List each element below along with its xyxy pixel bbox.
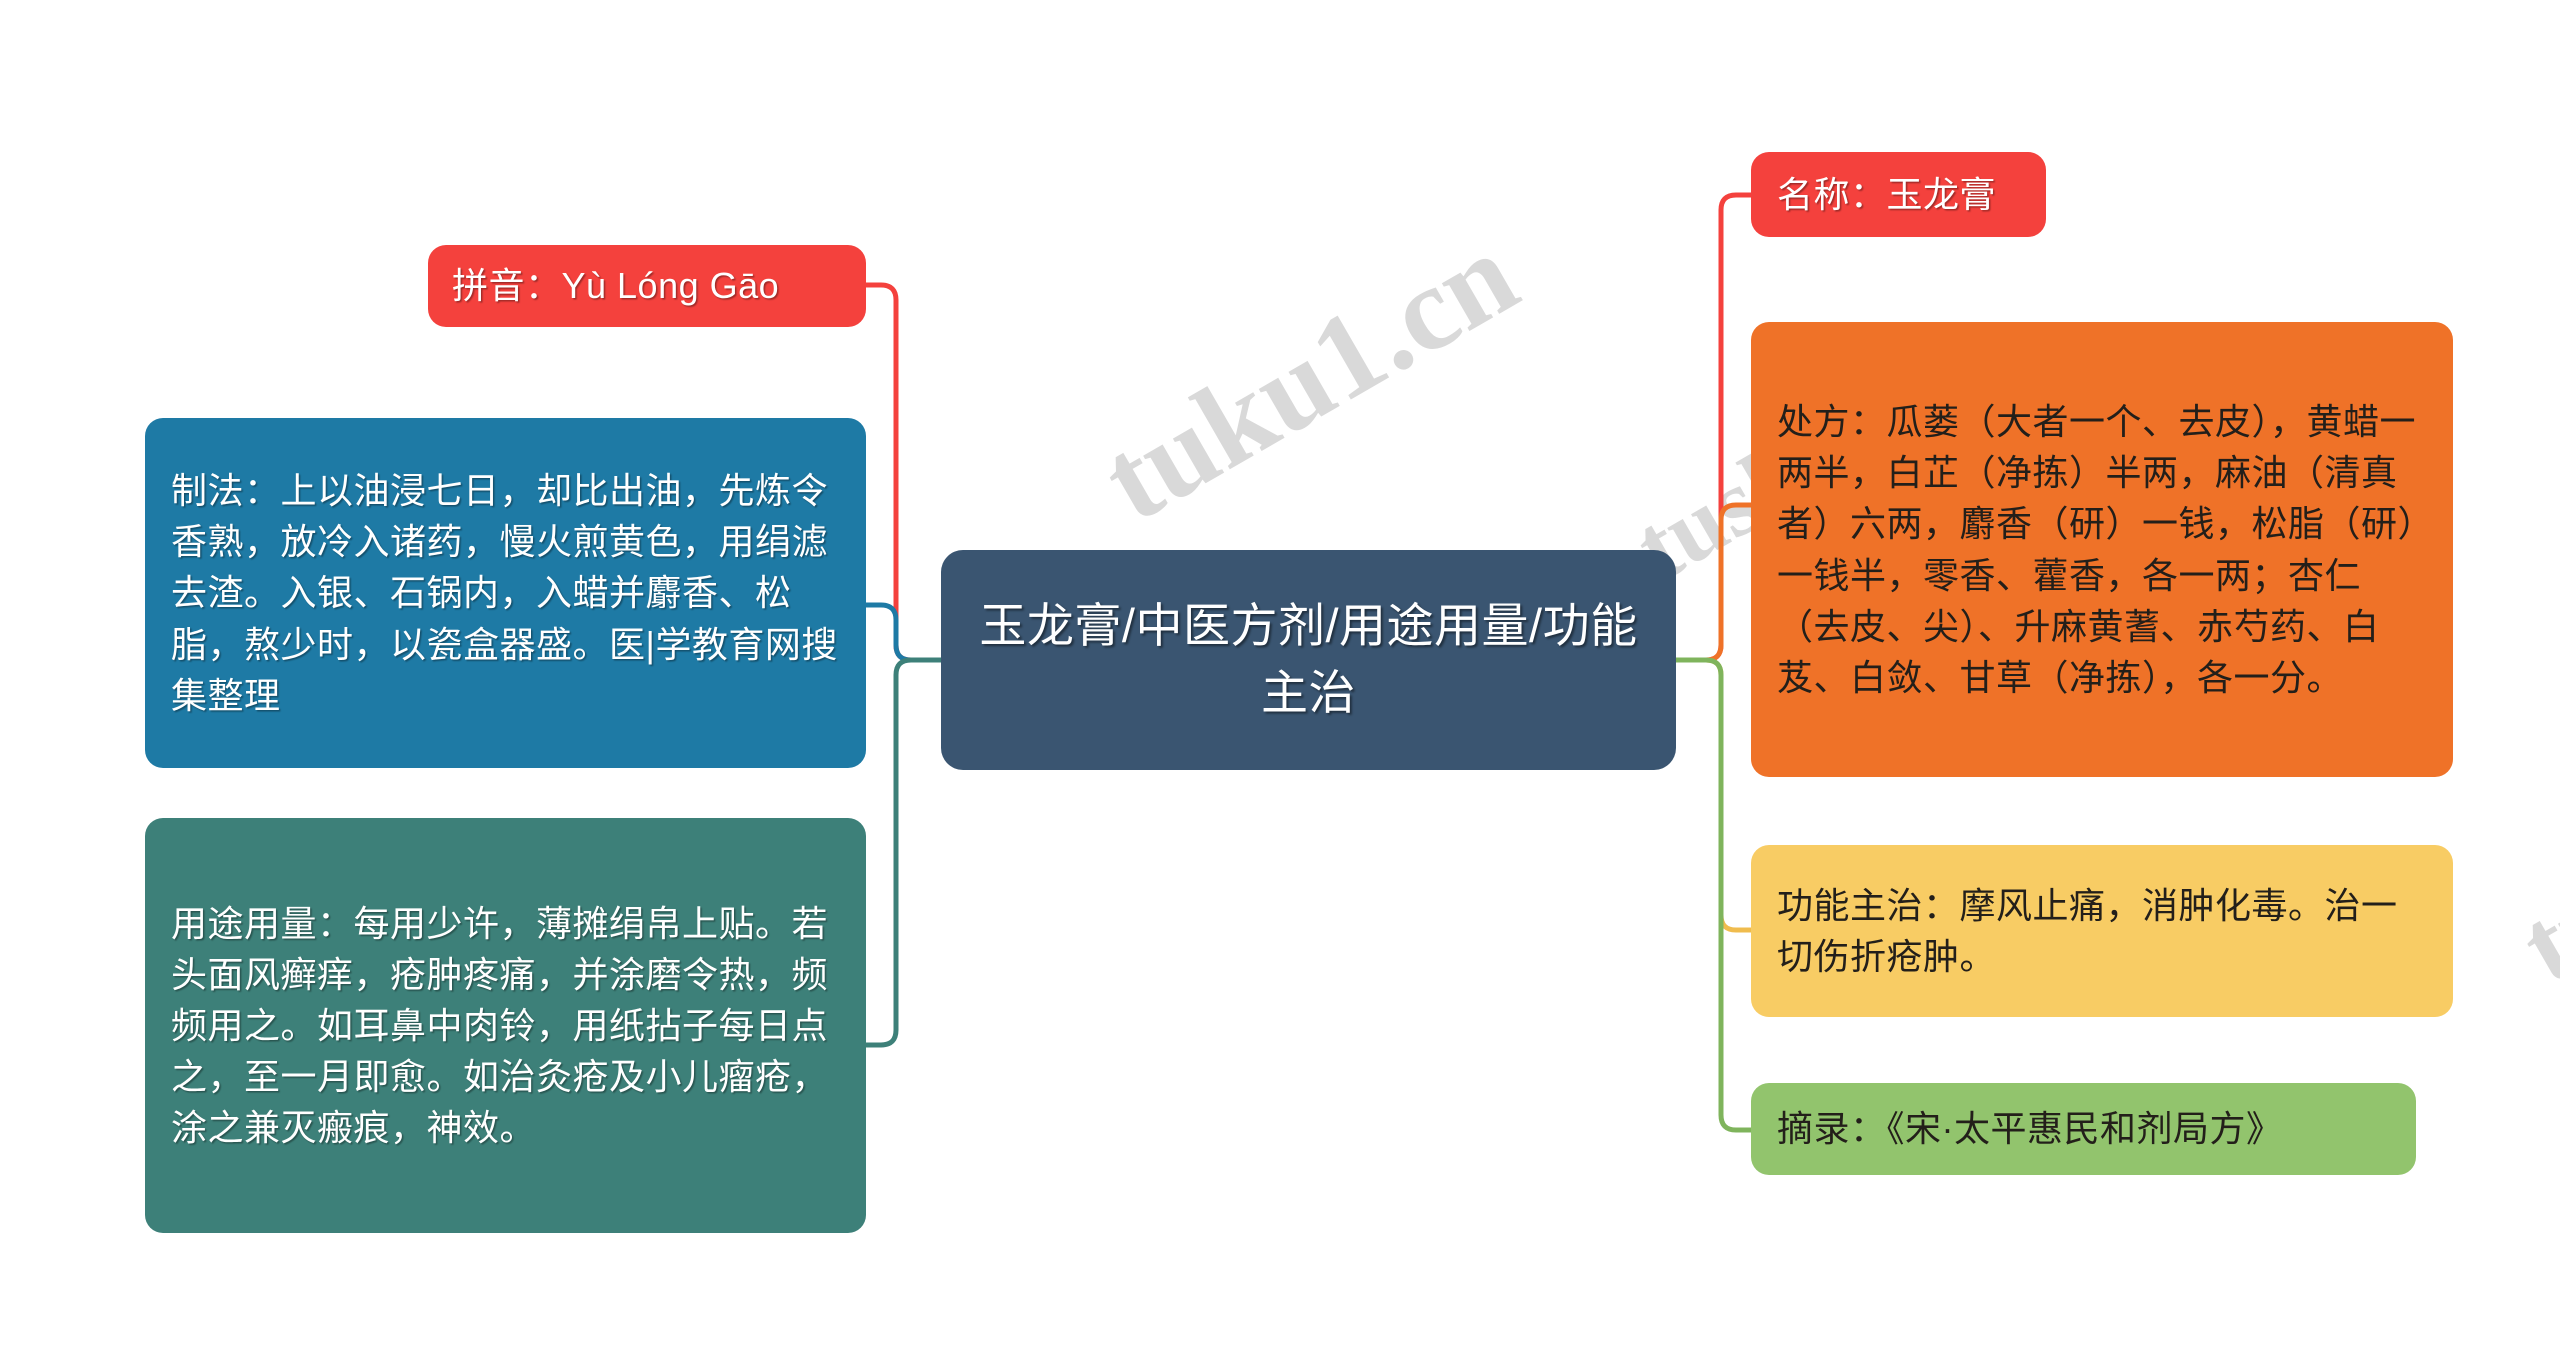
mindmap-canvas: tuku1.cn www.tushuai.cn 图书 tuku1.shu 图 c… bbox=[0, 0, 2560, 1347]
node-mingcheng[interactable]: 名称：玉龙膏 bbox=[1751, 152, 2046, 237]
central-node[interactable]: 玉龙膏/中医方剂/用途用量/功能主治 bbox=[941, 550, 1676, 770]
node-chufang-label: 处方：瓜蒌（大者一个、去皮），黄蜡一两半，白芷（净拣）半两，麻油（清真者）六两，… bbox=[1777, 396, 2427, 703]
node-zhailu-label: 摘录：《宋·太平惠民和剂局方》 bbox=[1777, 1103, 2390, 1154]
connector-gongneng bbox=[1676, 660, 1751, 930]
node-zhifa[interactable]: 制法：上以油浸七日，却比出油，先炼令香熟，放冷入诸药，慢火煎黄色，用绢滤去渣。入… bbox=[145, 418, 866, 768]
connector-chufang bbox=[1676, 505, 1751, 660]
watermark-text: tuku1.cn bbox=[1080, 205, 1539, 550]
node-gongneng[interactable]: 功能主治：摩风止痛，消肿化毒。治一切伤折疮肿。 bbox=[1751, 845, 2453, 1017]
node-yongtu-label: 用途用量：每用少许，薄摊绢帛上贴。若头面风癣痒，疮肿疼痛，并涂磨令热，频频用之。… bbox=[171, 898, 840, 1154]
node-zhifa-label: 制法：上以油浸七日，却比出油，先炼令香熟，放冷入诸药，慢火煎黄色，用绢滤去渣。入… bbox=[171, 465, 840, 721]
node-pinyin-label: 拼音：Yù Lóng Gāo bbox=[452, 260, 842, 311]
node-gongneng-label: 功能主治：摩风止痛，消肿化毒。治一切伤折疮肿。 bbox=[1777, 880, 2427, 982]
connector-zhifa bbox=[866, 605, 941, 660]
connector-zhailu bbox=[1676, 660, 1751, 1130]
node-chufang[interactable]: 处方：瓜蒌（大者一个、去皮），黄蜡一两半，白芷（净拣）半两，麻油（清真者）六两，… bbox=[1751, 322, 2453, 777]
node-mingcheng-label: 名称：玉龙膏 bbox=[1777, 169, 2020, 220]
central-node-label: 玉龙膏/中医方剂/用途用量/功能主治 bbox=[967, 593, 1650, 726]
connector-pinyin bbox=[866, 285, 941, 660]
watermark-text: tuku1.shu bbox=[2500, 666, 2560, 1010]
connector-yongtu bbox=[866, 660, 941, 1045]
node-zhailu[interactable]: 摘录：《宋·太平惠民和剂局方》 bbox=[1751, 1083, 2416, 1175]
node-yongtu[interactable]: 用途用量：每用少许，薄摊绢帛上贴。若头面风癣痒，疮肿疼痛，并涂磨令热，频频用之。… bbox=[145, 818, 866, 1233]
connector-mingcheng bbox=[1676, 195, 1751, 660]
node-pinyin[interactable]: 拼音：Yù Lóng Gāo bbox=[428, 245, 866, 327]
